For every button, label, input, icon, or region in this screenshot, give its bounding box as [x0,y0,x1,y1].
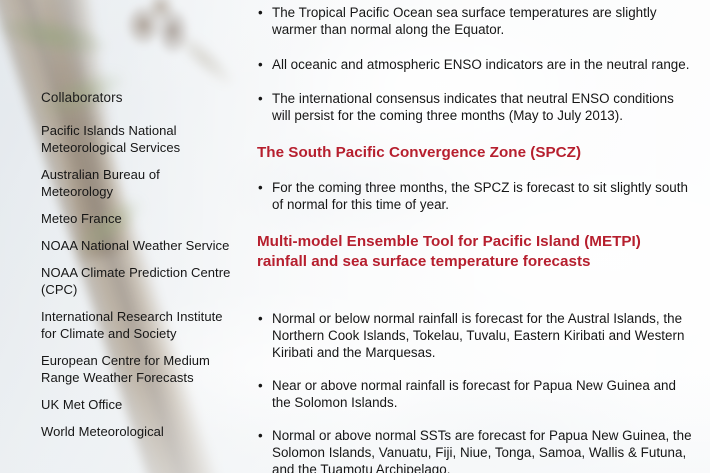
bullet-icon: • [258,311,263,328]
summary-bullet-text: Normal or below normal rainfall is forec… [272,311,684,360]
bullet-icon: • [258,5,263,22]
summary-bullet: • Near or above normal rainfall is forec… [257,378,695,412]
collaborator-item: International Research Institute for Cli… [41,308,231,342]
summary-bullet: • The international consensus indicates … [257,91,695,125]
section-heading-text: Multi-model Ensemble Tool for Pacific Is… [257,232,695,271]
collaborator-item: Australian Bureau of Meteorology [41,166,231,200]
bullet-icon: • [258,428,263,445]
summary-bullet: • For the coming three months, the SPCZ … [257,180,695,214]
collaborator-item: European Centre for Medium Range Weather… [41,352,231,386]
bullet-icon: • [258,57,263,74]
section-heading-text: The South Pacific Convergence Zone (SPCZ… [257,143,695,163]
summary-bullet-text: Near or above normal rainfall is forecas… [272,378,676,410]
summary-bullet: • Normal or below normal rainfall is for… [257,311,695,361]
summary-bullet-text: The Tropical Pacific Ocean sea surface t… [272,5,657,37]
bullet-icon: • [258,180,263,197]
summary-bullet: • Normal or above normal SSTs are foreca… [257,428,695,473]
collaborator-item: Meteo France [41,210,231,227]
bullet-icon: • [258,91,263,108]
collaborators-heading: Collaborators [41,89,123,106]
collaborator-item: World Meteorological [41,423,231,440]
collaborators-sidebar: Collaborators Pacific Islands National M… [41,0,231,473]
collaborator-item: Pacific Islands National Meteorological … [41,122,231,156]
section-heading-spcz: The South Pacific Convergence Zone (SPCZ… [257,143,695,163]
section-heading-metpi: Multi-model Ensemble Tool for Pacific Is… [257,232,695,271]
page-canvas: Collaborators Pacific Islands National M… [0,0,710,473]
forecast-summary-column: • The Tropical Pacific Ocean sea surface… [257,0,695,473]
summary-bullet: • The Tropical Pacific Ocean sea surface… [257,5,695,39]
summary-bullet-text: Normal or above normal SSTs are forecast… [272,428,692,473]
bullet-icon: • [258,378,263,395]
collaborator-item: NOAA Climate Prediction Centre (CPC) [41,264,231,298]
summary-bullet-text: All oceanic and atmospheric ENSO indicat… [272,57,689,72]
summary-bullet-text: For the coming three months, the SPCZ is… [272,180,688,212]
page-content: Collaborators Pacific Islands National M… [0,0,710,473]
collaborators-list: Pacific Islands National Meteorological … [41,122,231,450]
collaborator-item: UK Met Office [41,396,231,413]
collaborator-item: NOAA National Weather Service [41,237,231,254]
summary-bullet-text: The international consensus indicates th… [272,91,674,123]
summary-bullet: • All oceanic and atmospheric ENSO indic… [257,57,695,74]
